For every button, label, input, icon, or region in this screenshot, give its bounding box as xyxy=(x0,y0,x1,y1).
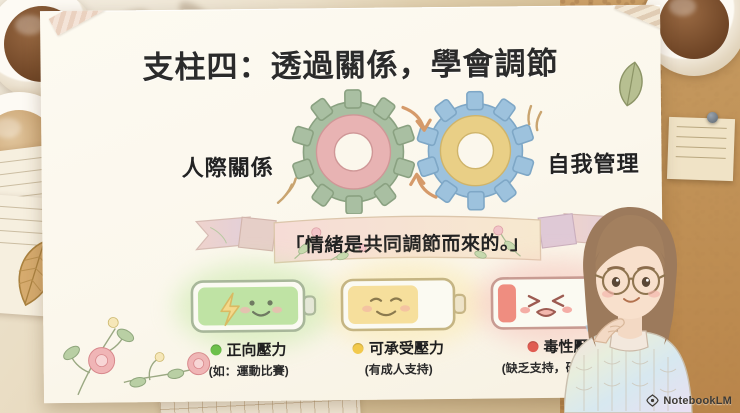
battery-positive-stress xyxy=(189,274,322,337)
legend-detail: (有成人支持) xyxy=(324,360,474,379)
legend-dot-green xyxy=(210,344,221,355)
slide-canvas: 支柱四：透過關係，學會調節 xyxy=(0,0,740,413)
legend-head: 可承受壓力 xyxy=(323,337,473,360)
girl-illustration xyxy=(564,195,696,413)
legend-item-positive-stress: 正向壓力 (如：運動比賽) xyxy=(173,338,323,380)
gear-left xyxy=(291,89,415,214)
pinned-memo xyxy=(667,117,735,181)
battery-icon-full xyxy=(189,274,322,337)
memo-line xyxy=(676,136,726,139)
push-pin-icon xyxy=(707,112,718,123)
rotation-arrow-bottom xyxy=(411,174,436,197)
legend-head: 正向壓力 xyxy=(173,338,323,361)
memo-line xyxy=(676,146,726,149)
legend-dot-yellow xyxy=(353,343,364,354)
notebooklm-logo-icon xyxy=(646,394,659,407)
memo-line xyxy=(677,126,727,129)
watermark-label: NotebookLM xyxy=(663,395,732,407)
label-interpersonal-relationships: 人際關係 xyxy=(181,150,273,183)
notebooklm-watermark: NotebookLM xyxy=(646,394,732,407)
battery-icon-partial xyxy=(339,273,472,336)
legend-detail: (如：運動比賽) xyxy=(174,361,324,380)
washi-tape xyxy=(614,5,664,30)
legend-item-tolerable-stress: 可承受壓力 (有成人支持) xyxy=(323,337,473,379)
legend-label: 正向壓力 xyxy=(226,339,286,361)
legend-dot-red xyxy=(527,341,538,352)
page-title: 支柱四：透過關係，學會調節 xyxy=(40,37,660,88)
memo-line xyxy=(676,156,726,159)
quote-text: 「情緒是共同調節而來的。」 xyxy=(190,227,624,259)
gears-illustration xyxy=(269,84,560,215)
label-self-management: 自我管理 xyxy=(547,146,639,179)
battery-tolerable-stress xyxy=(339,273,472,336)
gear-right xyxy=(416,91,534,210)
legend-label: 可承受壓力 xyxy=(369,337,444,359)
